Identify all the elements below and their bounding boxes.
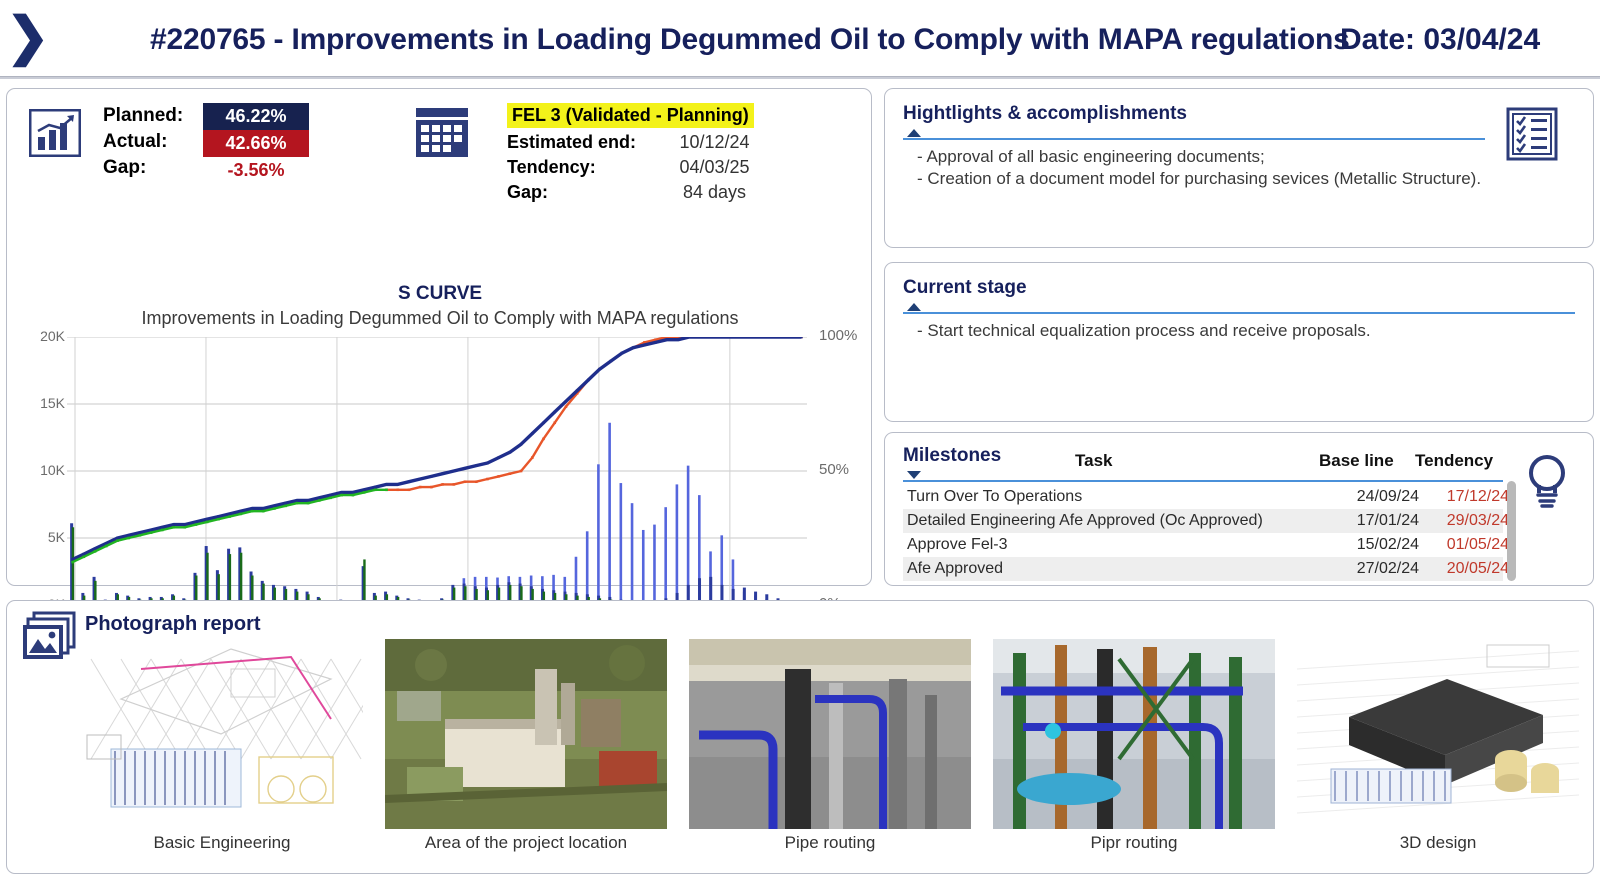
bar-chart-icon bbox=[29, 109, 81, 157]
highlight-line-2: - Creation of a document model for purch… bbox=[917, 169, 1481, 189]
tendency-value: 04/03/25 bbox=[657, 155, 772, 180]
photo-thumbnail[interactable] bbox=[385, 639, 667, 829]
page-header: ❯ #220765 - Improvements in Loading Degu… bbox=[0, 0, 1600, 80]
chart-subtitle: Improvements in Loading Degummed Oil to … bbox=[7, 308, 873, 329]
milestone-task: Detailed Engineering Afe Approved (Oc Ap… bbox=[907, 509, 1263, 533]
y-axis-tick: 15K bbox=[19, 395, 65, 411]
milestone-task: Turn Over To Operations bbox=[907, 485, 1082, 509]
gap-value: -3.56% bbox=[203, 157, 309, 183]
chart-title: S CURVE bbox=[7, 283, 873, 305]
milestone-base-line: 15/02/24 bbox=[1333, 533, 1419, 557]
photo-caption: 3D design bbox=[1400, 833, 1477, 853]
photo-caption: Pipr routing bbox=[1091, 833, 1178, 853]
caret-up-icon[interactable] bbox=[907, 303, 921, 311]
chart-plot-area bbox=[67, 337, 807, 605]
fel-status-badge: FEL 3 (Validated - Planning) bbox=[507, 103, 754, 128]
actual-label: Actual: bbox=[103, 129, 183, 155]
dashboard-page: ❯ #220765 - Improvements in Loading Degu… bbox=[0, 0, 1600, 880]
milestone-task: Afe Approved bbox=[907, 557, 1003, 581]
caret-down-icon[interactable] bbox=[907, 471, 921, 479]
actual-value: 42.66% bbox=[203, 130, 309, 157]
photo-cell[interactable]: 3D design bbox=[1297, 639, 1579, 867]
photo-cell[interactable]: Area of the project location bbox=[385, 639, 667, 867]
milestones-panel: Milestones Task Base line Tendency Turn … bbox=[884, 432, 1594, 586]
milestones-title: Milestones bbox=[903, 445, 1001, 467]
table-row[interactable]: Afe Approved27/02/2420/05/24 bbox=[903, 557, 1503, 581]
gap-label: Gap: bbox=[103, 155, 183, 181]
column-header-base-line: Base line bbox=[1319, 451, 1394, 471]
photo-caption: Pipe routing bbox=[785, 833, 876, 853]
milestone-tendency: 01/05/24 bbox=[1423, 533, 1509, 557]
estimated-end-value: 10/12/24 bbox=[657, 130, 772, 155]
highlight-line-1: - Approval of all basic engineering docu… bbox=[917, 147, 1265, 167]
photo-thumbnail[interactable] bbox=[689, 639, 971, 829]
milestone-tendency: 17/12/24 bbox=[1423, 485, 1509, 509]
table-row[interactable]: Approve Fel-315/02/2401/05/24 bbox=[903, 533, 1503, 557]
column-header-tendency: Tendency bbox=[1415, 451, 1493, 471]
photo-cell[interactable]: Pipr routing bbox=[993, 639, 1275, 867]
column-header-task: Task bbox=[1075, 451, 1113, 471]
kpi-labels: Planned: Actual: Gap: bbox=[103, 103, 183, 181]
current-stage-line-1: - Start technical equalization process a… bbox=[917, 321, 1371, 341]
fel-details: Estimated end:10/12/24 Tendency:04/03/25… bbox=[507, 130, 772, 205]
milestones-underline bbox=[903, 480, 1503, 482]
photo-grid: Basic EngineeringArea of the project loc… bbox=[81, 639, 1581, 867]
photograph-report-panel: Photograph report Basic EngineeringArea … bbox=[6, 600, 1594, 874]
milestone-task: Approve Fel-3 bbox=[907, 533, 1008, 557]
photo-caption: Basic Engineering bbox=[153, 833, 290, 853]
y-axis-tick: 20K bbox=[19, 328, 65, 344]
fel-row-gap: Gap:84 days bbox=[507, 180, 772, 205]
y2-axis-tick: 50% bbox=[819, 461, 879, 478]
current-stage-underline bbox=[903, 312, 1575, 314]
photograph-report-title: Photograph report bbox=[85, 613, 261, 636]
current-stage-title: Current stage bbox=[903, 277, 1027, 299]
header-divider bbox=[0, 76, 1600, 79]
photo-stack-icon bbox=[21, 611, 77, 663]
milestone-tendency: 20/05/24 bbox=[1423, 557, 1509, 581]
photo-thumbnail[interactable] bbox=[81, 639, 363, 829]
milestones-scrollbar[interactable] bbox=[1507, 481, 1516, 581]
photo-cell[interactable]: Pipe routing bbox=[689, 639, 971, 867]
table-row[interactable]: Detailed Engineering Afe Approved (Oc Ap… bbox=[903, 509, 1503, 533]
highlights-underline bbox=[903, 138, 1485, 140]
planned-label: Planned: bbox=[103, 103, 183, 129]
estimated-end-label: Estimated end: bbox=[507, 130, 657, 155]
fel-gap-label: Gap: bbox=[507, 180, 657, 205]
chevron-right-icon[interactable]: ❯ bbox=[6, 8, 46, 68]
table-row[interactable]: Turn Over To Operations24/09/2417/12/24 bbox=[903, 485, 1503, 509]
fel-gap-value: 84 days bbox=[657, 180, 772, 205]
photo-thumbnail[interactable] bbox=[993, 639, 1275, 829]
report-date: Date: 03/04/24 bbox=[1340, 14, 1590, 66]
tendency-label: Tendency: bbox=[507, 155, 657, 180]
lightbulb-icon bbox=[1521, 449, 1573, 511]
photo-caption: Area of the project location bbox=[425, 833, 627, 853]
page-title: #220765 - Improvements in Loading Degumm… bbox=[150, 14, 1330, 66]
current-stage-panel: Current stage - Start technical equaliza… bbox=[884, 262, 1594, 422]
highlights-title: Hightlights & accomplishments bbox=[903, 103, 1187, 125]
milestone-base-line: 27/02/24 bbox=[1333, 557, 1419, 581]
calendar-icon bbox=[413, 107, 471, 159]
milestone-base-line: 17/01/24 bbox=[1333, 509, 1419, 533]
fel-row-estimated-end: Estimated end:10/12/24 bbox=[507, 130, 772, 155]
milestone-base-line: 24/09/24 bbox=[1333, 485, 1419, 509]
y2-axis-tick: 100% bbox=[819, 327, 879, 344]
milestones-table: Turn Over To Operations24/09/2417/12/24D… bbox=[903, 485, 1503, 581]
checklist-icon bbox=[1505, 107, 1559, 161]
fel-row-tendency: Tendency:04/03/25 bbox=[507, 155, 772, 180]
caret-up-icon[interactable] bbox=[907, 129, 921, 137]
milestone-tendency: 29/03/24 bbox=[1423, 509, 1509, 533]
highlights-panel: Hightlights & accomplishments - Approval… bbox=[884, 88, 1594, 248]
chart-canvas bbox=[67, 337, 807, 605]
photo-thumbnail[interactable] bbox=[1297, 639, 1579, 829]
photo-cell[interactable]: Basic Engineering bbox=[81, 639, 363, 867]
s-curve-card: Planned: Actual: Gap: 46.22% 42.66% -3.5… bbox=[6, 88, 872, 586]
y-axis-tick: 10K bbox=[19, 462, 65, 478]
y-axis-tick: 5K bbox=[19, 529, 65, 545]
planned-value: 46.22% bbox=[203, 103, 309, 130]
